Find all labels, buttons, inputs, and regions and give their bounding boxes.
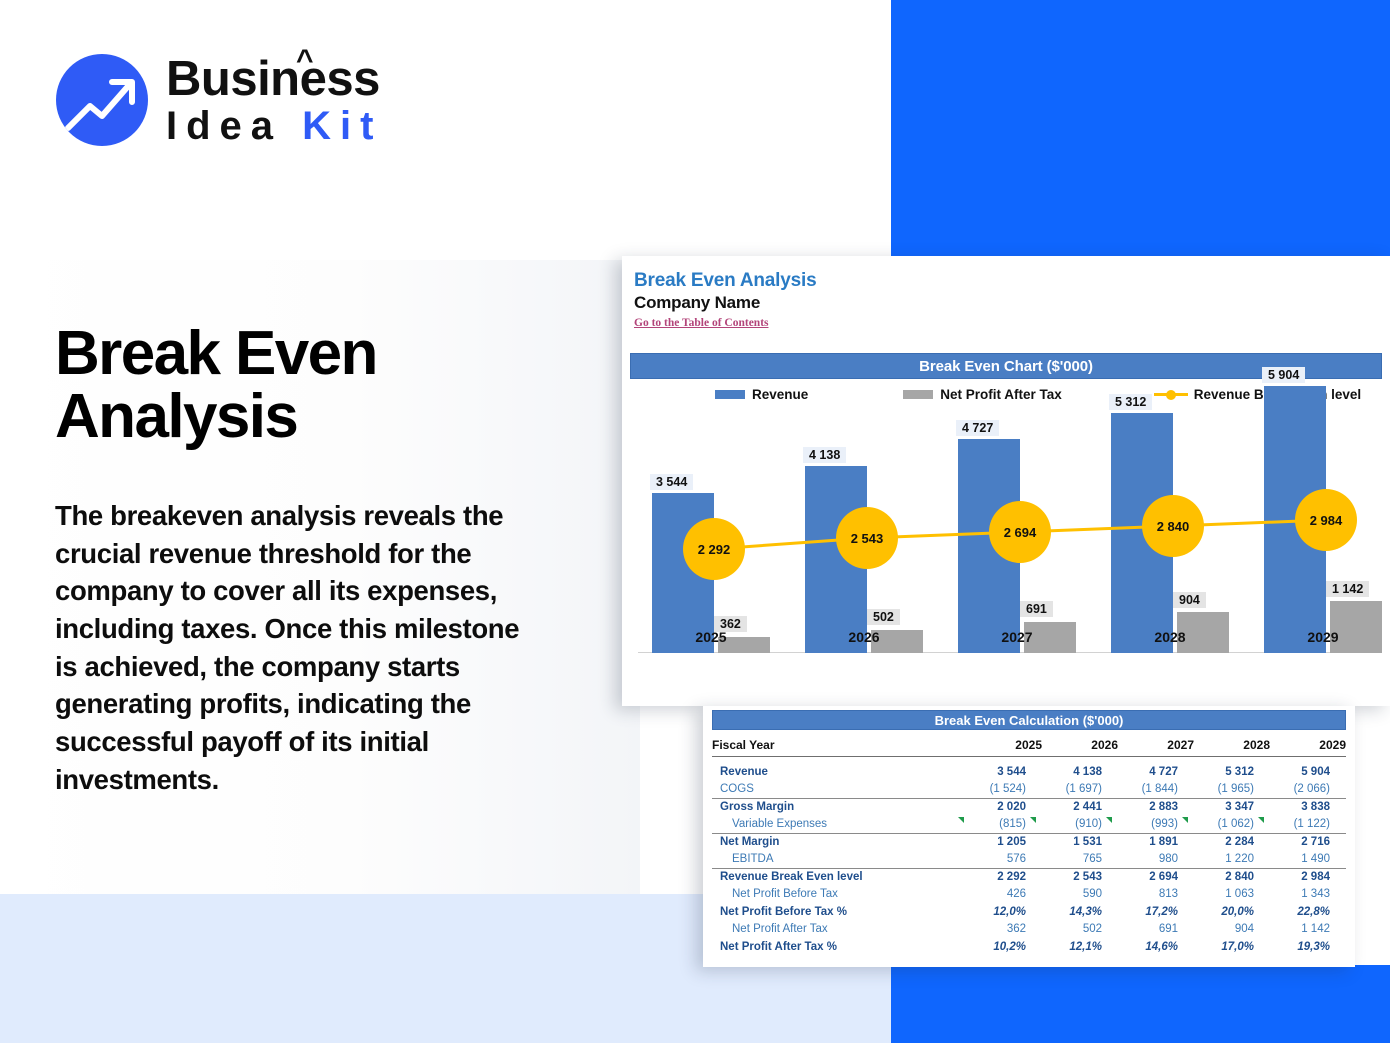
bar-label-revenue-2026: 4 138	[803, 447, 846, 463]
cell-cogs-2028: (1 965)	[1194, 781, 1270, 799]
sheet-company: Company Name	[634, 293, 1390, 313]
legend-swatch-net-profit-icon	[903, 390, 933, 399]
cell-npat-pct-2029: 19,3%	[1270, 938, 1346, 956]
cell-ebitda-2029: 1 490	[1270, 851, 1346, 869]
legend-item-break-even-level[interactable]: Revenue Break Even level	[1154, 387, 1361, 402]
cell-break-even-2025: 2 292	[966, 868, 1042, 886]
cell-gross-margin-2027: 2 883	[1118, 798, 1194, 816]
legend-swatch-revenue-icon	[715, 390, 745, 399]
break-even-calculation-table: Fiscal Year 2025 2026 2027 2028 2029 Rev…	[712, 734, 1346, 956]
table-header-2028: 2028	[1194, 734, 1270, 756]
cell-npat-2028: 904	[1194, 921, 1270, 939]
break-even-node-2027[interactable]: 2 694	[989, 501, 1051, 563]
row-label-net-margin: Net Margin	[712, 833, 966, 851]
cell-net-margin-2028: 2 284	[1194, 833, 1270, 851]
chart-x-label-2025: 2025	[652, 629, 770, 645]
break-even-node-2026[interactable]: 2 543	[836, 507, 898, 569]
table-title: Break Even Calculation ($'000)	[712, 710, 1346, 730]
break-even-node-2029[interactable]: 2 984	[1295, 489, 1357, 551]
cell-cogs-2026: (1 697)	[1042, 781, 1118, 799]
bar-net-profit-2029[interactable]	[1330, 601, 1382, 653]
chart-panel: Break Even Analysis Company Name Go to t…	[622, 256, 1390, 706]
brand-name-line1: Business ^	[166, 55, 383, 104]
table-row[interactable]: Net Profit After Tax % 10,2% 12,1% 14,6%…	[712, 938, 1346, 956]
cell-gross-margin-2026: 2 441	[1042, 798, 1118, 816]
table-row[interactable]: COGS (1 524) (1 697) (1 844) (1 965) (2 …	[712, 781, 1346, 799]
background-blue-block-top-right	[891, 0, 1390, 260]
cell-npat-pct-2027: 14,6%	[1118, 938, 1194, 956]
cell-variable-expenses-2027: (993)	[1118, 816, 1194, 834]
cell-cogs-2027: (1 844)	[1118, 781, 1194, 799]
brand-name-line2: Idea Kit	[166, 106, 383, 146]
bar-label-net-profit-2027: 691	[1020, 601, 1053, 617]
cell-gross-margin-2029: 3 838	[1270, 798, 1346, 816]
circumflex-accent-icon: ^	[296, 46, 313, 76]
cell-ebitda-2025: 576	[966, 851, 1042, 869]
legend-item-net-profit-after-tax[interactable]: Net Profit After Tax	[903, 387, 1062, 402]
cell-net-margin-2025: 1 205	[966, 833, 1042, 851]
background-blue-block-bottom-right	[891, 965, 1390, 1043]
row-label-net-profit-after-tax: Net Profit After Tax	[712, 921, 966, 939]
cell-revenue-2027: 4 727	[1118, 763, 1194, 781]
table-header-fiscal-year: Fiscal Year	[712, 734, 966, 756]
cell-revenue-2026: 4 138	[1042, 763, 1118, 781]
chart-x-label-2028: 2028	[1111, 629, 1229, 645]
bar-label-revenue-2029: 5 904	[1262, 367, 1305, 383]
cell-npat-pct-2026: 12,1%	[1042, 938, 1118, 956]
cell-variable-expenses-2028: (1 062)	[1194, 816, 1270, 834]
cell-net-margin-2027: 1 891	[1118, 833, 1194, 851]
page-title: Break Even Analysis	[55, 322, 575, 448]
cell-variable-expenses-2025: (815)	[966, 816, 1042, 834]
brand-logo: Business ^ Idea Kit	[56, 50, 383, 150]
sheet-title: Break Even Analysis	[634, 270, 1390, 292]
cell-net-margin-2026: 1 531	[1042, 833, 1118, 851]
table-row[interactable]: Net Profit After Tax 362 502 691 904 1 1…	[712, 921, 1346, 939]
bar-label-revenue-2027: 4 727	[956, 420, 999, 436]
cell-npbt-pct-2027: 17,2%	[1118, 903, 1194, 921]
page-description: The breakeven analysis reveals the cruci…	[55, 497, 545, 798]
table-row[interactable]: Revenue Break Even level 2 292 2 543 2 6…	[712, 868, 1346, 886]
bar-label-net-profit-2029: 1 142	[1326, 581, 1369, 597]
slide-canvas: Business ^ Idea Kit Break Even Analysis …	[0, 0, 1390, 1043]
cell-ebitda-2026: 765	[1042, 851, 1118, 869]
cell-variable-expenses-2026: (910)	[1042, 816, 1118, 834]
cell-cogs-2025: (1 524)	[966, 781, 1042, 799]
cell-npbt-2029: 1 343	[1270, 886, 1346, 904]
cell-npbt-pct-2029: 22,8%	[1270, 903, 1346, 921]
brand-idea-text: Idea	[166, 104, 282, 148]
chart-x-label-2026: 2026	[805, 629, 923, 645]
legend-marker-break-even-line-icon	[1154, 389, 1188, 400]
cell-revenue-2025: 3 544	[966, 763, 1042, 781]
table-row[interactable]: EBITDA 576 765 980 1 220 1 490	[712, 851, 1346, 869]
cell-npbt-pct-2028: 20,0%	[1194, 903, 1270, 921]
table-header-2029: 2029	[1270, 734, 1346, 756]
brand-name-text: Business	[166, 52, 380, 106]
bar-label-revenue-2025: 3 544	[650, 474, 693, 490]
table-row[interactable]: Net Profit Before Tax 426 590 813 1 063 …	[712, 886, 1346, 904]
row-label-net-profit-before-tax: Net Profit Before Tax	[712, 886, 966, 904]
cell-npat-2025: 362	[966, 921, 1042, 939]
break-even-node-2028[interactable]: 2 840	[1142, 495, 1204, 557]
cell-revenue-2028: 5 312	[1194, 763, 1270, 781]
row-label-revenue: Revenue	[712, 763, 966, 781]
cell-npat-2026: 502	[1042, 921, 1118, 939]
legend-label-net-profit-after-tax: Net Profit After Tax	[940, 387, 1062, 402]
table-body: Revenue 3 544 4 138 4 727 5 312 5 904 CO…	[712, 756, 1346, 956]
cell-break-even-2028: 2 840	[1194, 868, 1270, 886]
table-row[interactable]: Variable Expenses (815) (910) (993) (1 0…	[712, 816, 1346, 834]
row-label-net-profit-before-tax-pct: Net Profit Before Tax %	[712, 903, 966, 921]
table-row[interactable]: Net Profit Before Tax % 12,0% 14,3% 17,2…	[712, 903, 1346, 921]
cell-net-margin-2029: 2 716	[1270, 833, 1346, 851]
bar-label-revenue-2028: 5 312	[1109, 394, 1152, 410]
brand-kit-text: Kit	[302, 104, 382, 148]
cell-break-even-2029: 2 984	[1270, 868, 1346, 886]
row-label-cogs: COGS	[712, 781, 966, 799]
cell-npbt-2026: 590	[1042, 886, 1118, 904]
break-even-node-2025[interactable]: 2 292	[683, 518, 745, 580]
cell-npat-2029: 1 142	[1270, 921, 1346, 939]
cell-break-even-2026: 2 543	[1042, 868, 1118, 886]
cell-cogs-2029: (2 066)	[1270, 781, 1346, 799]
cell-npbt-2025: 426	[966, 886, 1042, 904]
cell-break-even-2027: 2 694	[1118, 868, 1194, 886]
table-spacer	[712, 756, 1346, 763]
table-header-2027: 2027	[1118, 734, 1194, 756]
bar-label-net-profit-2026: 502	[867, 609, 900, 625]
cell-revenue-2029: 5 904	[1270, 763, 1346, 781]
table-header-row: Fiscal Year 2025 2026 2027 2028 2029	[712, 734, 1346, 756]
cell-npbt-2028: 1 063	[1194, 886, 1270, 904]
table-of-contents-link[interactable]: Go to the Table of Contents	[634, 317, 769, 329]
table-header-2025: 2025	[966, 734, 1042, 756]
chart-plot-area: 3 544 362 2025 4 138 502 2026 4 727 691	[630, 408, 1382, 698]
table-row[interactable]: Net Margin 1 205 1 531 1 891 2 284 2 716	[712, 833, 1346, 851]
row-label-net-profit-after-tax-pct: Net Profit After Tax %	[712, 938, 966, 956]
cell-npat-2027: 691	[1118, 921, 1194, 939]
table-row[interactable]: Revenue 3 544 4 138 4 727 5 312 5 904	[712, 763, 1346, 781]
chart-x-label-2027: 2027	[958, 629, 1076, 645]
row-label-gross-margin: Gross Margin	[712, 798, 966, 816]
cell-variable-expenses-2029: (1 122)	[1270, 816, 1346, 834]
cell-npat-pct-2025: 10,2%	[966, 938, 1042, 956]
cell-gross-margin-2028: 3 347	[1194, 798, 1270, 816]
cell-gross-margin-2025: 2 020	[966, 798, 1042, 816]
table-row[interactable]: Gross Margin 2 020 2 441 2 883 3 347 3 8…	[712, 798, 1346, 816]
cell-npbt-2027: 813	[1118, 886, 1194, 904]
legend-label-revenue: Revenue	[752, 387, 808, 402]
sheet-header: Break Even Analysis Company Name Go to t…	[622, 256, 1390, 331]
growth-arrow-icon	[56, 54, 148, 146]
cell-ebitda-2028: 1 220	[1194, 851, 1270, 869]
legend-item-revenue[interactable]: Revenue	[715, 387, 808, 402]
row-label-revenue-break-even-level: Revenue Break Even level	[712, 868, 966, 886]
row-label-ebitda: EBITDA	[712, 851, 966, 869]
table-header-2026: 2026	[1042, 734, 1118, 756]
calculation-panel: Break Even Calculation ($'000) Fiscal Ye…	[703, 706, 1355, 967]
cell-ebitda-2027: 980	[1118, 851, 1194, 869]
chart-x-label-2029: 2029	[1264, 629, 1382, 645]
cell-npbt-pct-2026: 14,3%	[1042, 903, 1118, 921]
cell-npat-pct-2028: 17,0%	[1194, 938, 1270, 956]
row-label-variable-expenses: Variable Expenses	[712, 816, 966, 834]
cell-npbt-pct-2025: 12,0%	[966, 903, 1042, 921]
bar-label-net-profit-2028: 904	[1173, 592, 1206, 608]
